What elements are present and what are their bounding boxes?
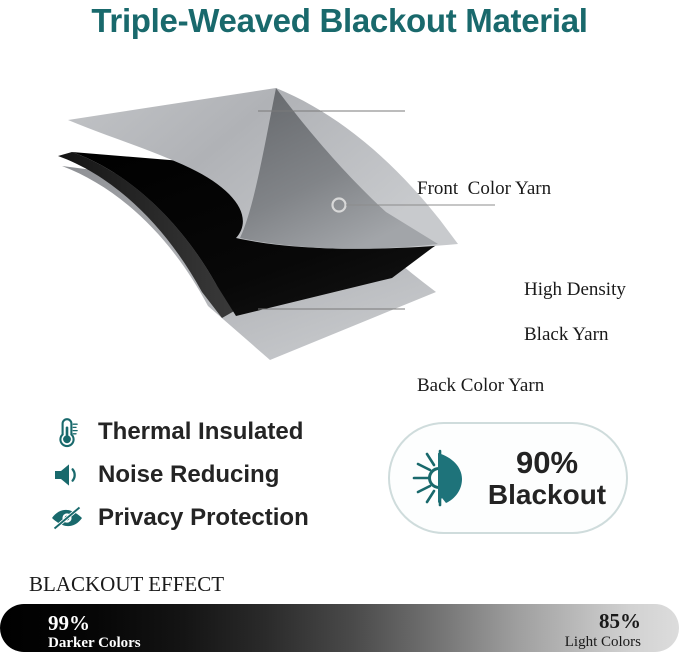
feature-label: Privacy Protection [98, 504, 309, 532]
eye-slash-icon [47, 500, 87, 536]
blackout-percent: 90% [476, 447, 618, 480]
blackout-effect-title: BLACKOUT EFFECT [29, 572, 224, 597]
feature-label: Noise Reducing [98, 461, 279, 489]
label-front-color-yarn: Front Color Yarn [417, 178, 551, 201]
page-title: Triple-Weaved Blackout Material [0, 2, 679, 40]
feature-list: Thermal Insulated Noise Reducing Privacy… [47, 410, 357, 539]
label-back-color-yarn: Back Color Yarn [417, 375, 544, 398]
effect-left-group: 99% Darker Colors [48, 612, 141, 651]
sun-blocked-icon [390, 445, 476, 511]
effect-left-percent: 99% [48, 612, 141, 635]
blackout-effect-gradient-bar: 99% Darker Colors 85% Light Colors [0, 604, 679, 652]
speaker-icon [47, 457, 87, 493]
blackout-badge-text: 90% Blackout [476, 447, 626, 509]
effect-left-label: Darker Colors [48, 635, 141, 651]
feature-item-noise-reducing: Noise Reducing [47, 453, 357, 496]
label-high-density-line1: High Density [524, 279, 626, 300]
feature-item-privacy-protection: Privacy Protection [47, 496, 357, 539]
label-high-density-black-yarn: High Density Black Yarn [505, 256, 626, 370]
blackout-word: Blackout [476, 480, 618, 509]
effect-right-group: 85% Light Colors [565, 610, 641, 650]
effect-right-label: Light Colors [565, 634, 641, 651]
feature-item-thermal-insulated: Thermal Insulated [47, 410, 357, 453]
fabric-layer-diagram: Front Color Yarn High Density Black Yarn… [0, 78, 679, 368]
effect-right-percent: 85% [565, 610, 641, 634]
thermometer-icon [47, 414, 87, 450]
feature-label: Thermal Insulated [98, 418, 303, 446]
label-high-density-line2: Black Yarn [524, 324, 608, 345]
blackout-badge: 90% Blackout [388, 422, 628, 534]
